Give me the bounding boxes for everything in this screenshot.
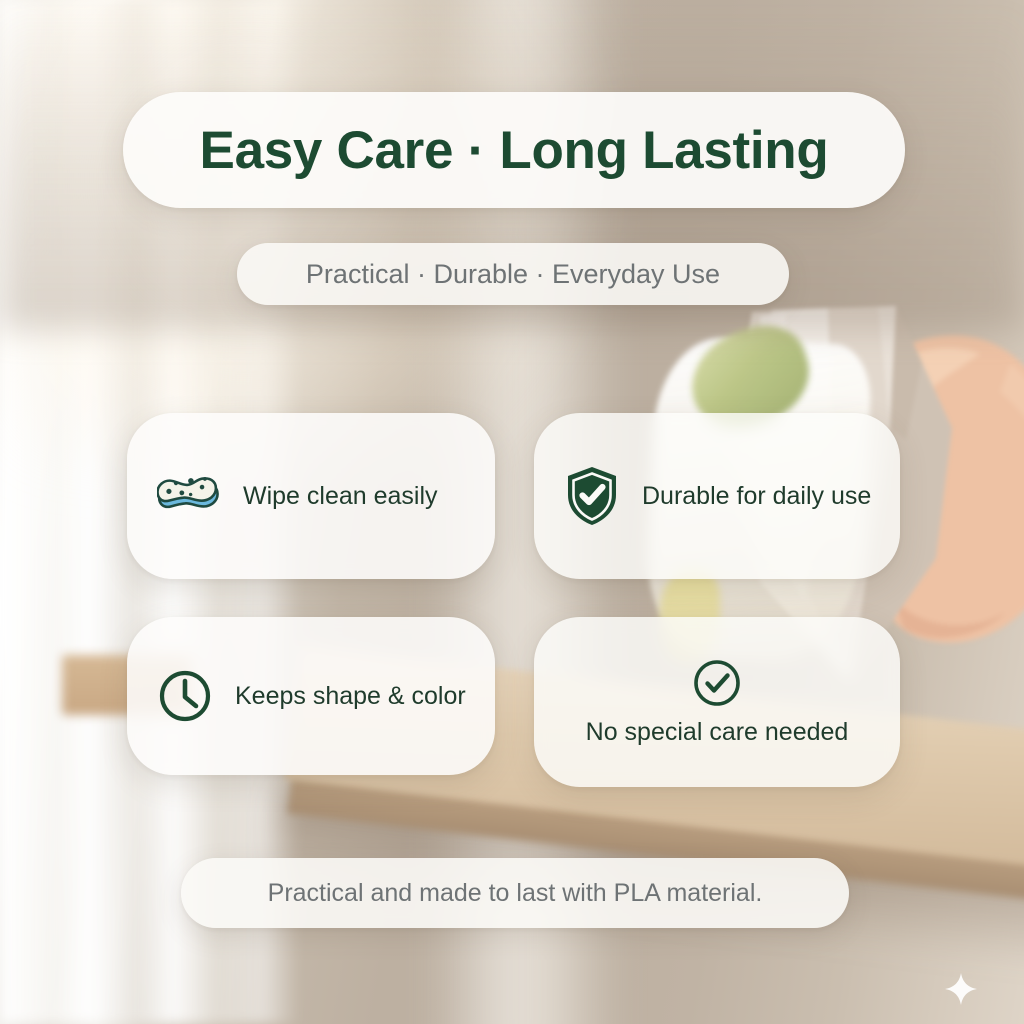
sparkle-icon: [944, 972, 978, 1006]
feature-label-no-special-care: No special care needed: [586, 718, 849, 747]
feature-card-no-special-care: No special care needed: [534, 617, 900, 787]
feature-label-keeps-shape: Keeps shape & color: [235, 682, 466, 711]
caption-pill: Practical and made to last with PLA mate…: [181, 858, 849, 928]
feature-label-durable: Durable for daily use: [642, 482, 871, 511]
subtitle-pill: Practical · Durable · Everyday Use: [237, 243, 789, 305]
sponge-icon: [157, 471, 221, 521]
content-overlay: Easy Care · Long Lasting Practical · Dur…: [0, 0, 1024, 1024]
promo-graphic: Easy Care · Long Lasting Practical · Dur…: [0, 0, 1024, 1024]
page-subtitle: Practical · Durable · Everyday Use: [306, 259, 720, 290]
page-title: Easy Care · Long Lasting: [200, 120, 829, 181]
shield-check-icon: [564, 465, 620, 527]
clock-icon: [157, 668, 213, 724]
title-pill: Easy Care · Long Lasting: [123, 92, 905, 208]
feature-card-wipe-clean: Wipe clean easily: [127, 413, 495, 579]
footer-caption: Practical and made to last with PLA mate…: [268, 879, 763, 908]
feature-label-wipe-clean: Wipe clean easily: [243, 482, 438, 511]
feature-card-durable: Durable for daily use: [534, 413, 900, 579]
feature-card-keeps-shape: Keeps shape & color: [127, 617, 495, 775]
circle-check-icon: [692, 658, 742, 708]
